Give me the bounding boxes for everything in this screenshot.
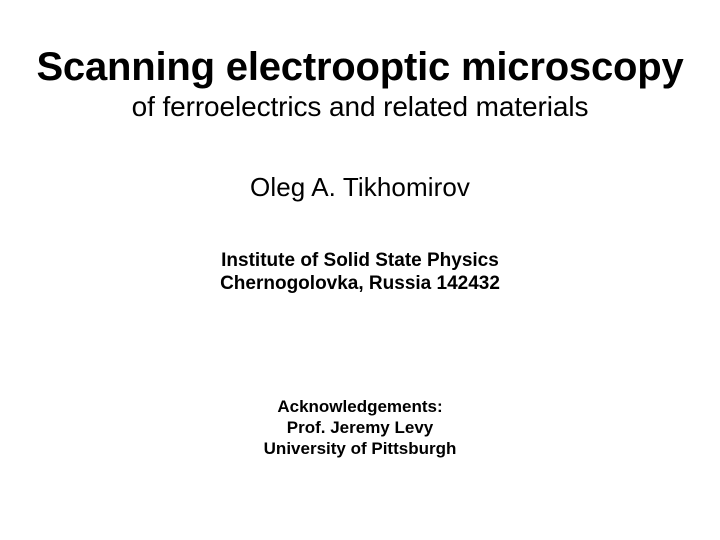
author-name: Oleg A. Tikhomirov [0,172,720,202]
acknowledgements-heading: Acknowledgements: [0,396,720,417]
acknowledgements-institution: University of Pittsburgh [0,438,720,459]
page-title: Scanning electrooptic microscopy [0,44,720,90]
presentation-title-slide: Scanning electrooptic microscopy of ferr… [0,0,720,540]
affiliation-block: Institute of Solid State Physics Chernog… [0,249,720,295]
acknowledgements-block: Acknowledgements: Prof. Jeremy Levy Univ… [0,396,720,459]
author-block: Oleg A. Tikhomirov [0,172,720,202]
acknowledgements-person: Prof. Jeremy Levy [0,417,720,438]
page-subtitle: of ferroelectrics and related materials [0,90,720,124]
title-block: Scanning electrooptic microscopy of ferr… [0,44,720,124]
affiliation-institute: Institute of Solid State Physics [0,249,720,272]
affiliation-location: Chernogolovka, Russia 142432 [0,272,720,295]
